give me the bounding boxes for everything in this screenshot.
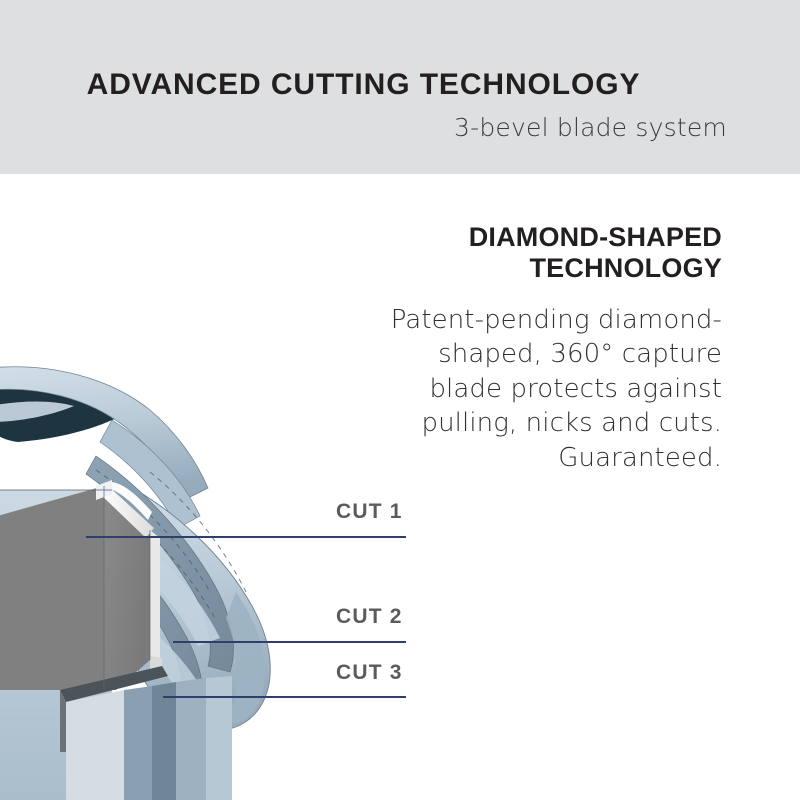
feature-heading-line-1: DIAMOND-SHAPED (469, 222, 722, 252)
page-title: ADVANCED CUTTING TECHNOLOGY (0, 70, 727, 100)
callout-cut-2-leader-line (173, 641, 406, 643)
page-subtitle: 3-bevel blade system (0, 113, 727, 143)
callout-cut-3-leader-line (163, 696, 406, 698)
blade-cad-svg (0, 360, 340, 800)
callout-cut-1-leader-line (86, 536, 406, 538)
callout-cut-2-label: CUT 2 (336, 605, 403, 629)
feature-body-text: Patent-pending diamond-shaped, 360° capt… (382, 303, 722, 476)
feature-heading-line-2: TECHNOLOGY (529, 253, 722, 283)
callout-cut-1-label: CUT 1 (336, 500, 403, 524)
callout-cut-3-label: CUT 3 (336, 661, 403, 685)
feature-heading: DIAMOND-SHAPED TECHNOLOGY (382, 222, 722, 285)
blade-illustration (0, 360, 340, 800)
feature-copy-column: DIAMOND-SHAPED TECHNOLOGY Patent-pending… (382, 222, 722, 476)
promo-graphic-page: ADVANCED CUTTING TECHNOLOGY 3-bevel blad… (0, 0, 800, 800)
